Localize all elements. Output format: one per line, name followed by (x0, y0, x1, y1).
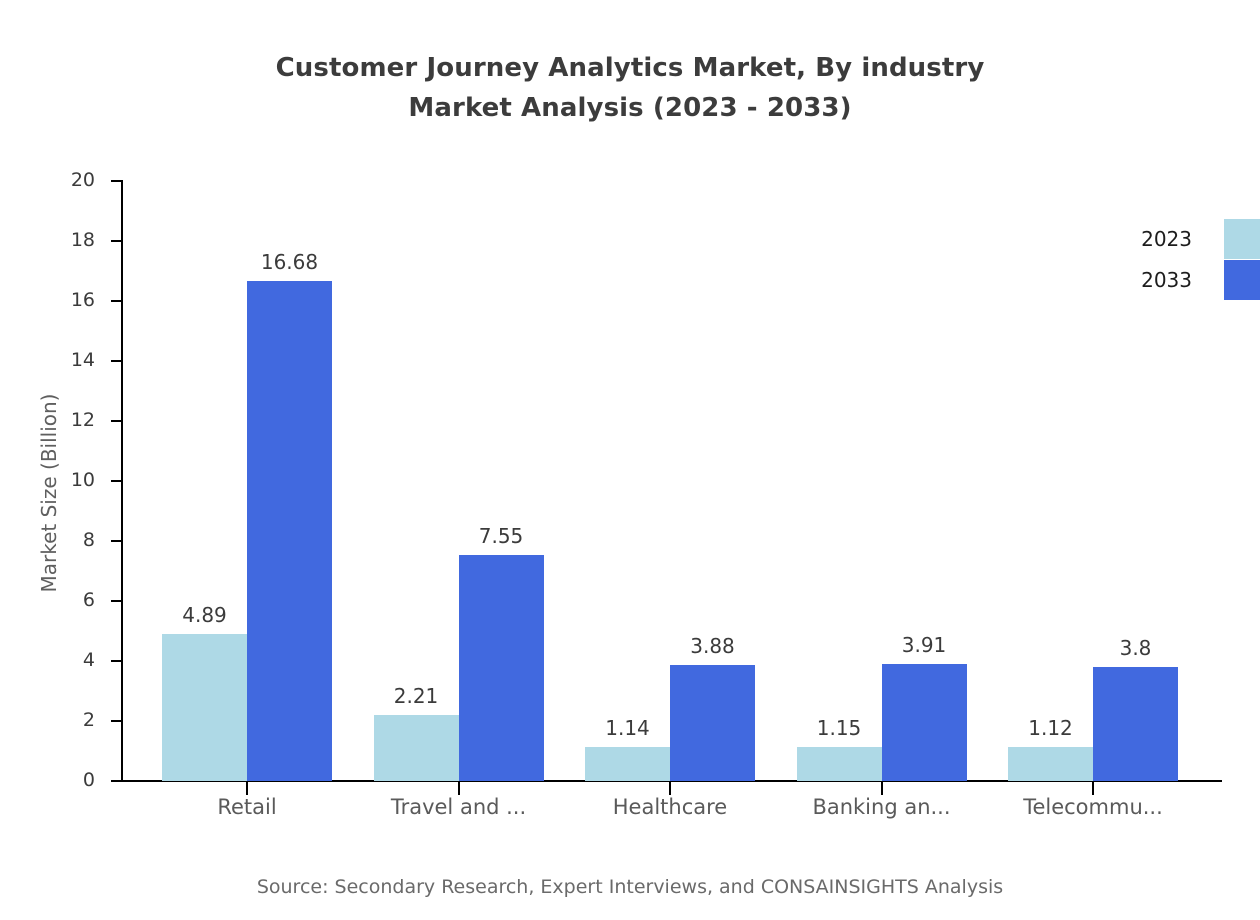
y-axis-tick-label: 2 (25, 711, 95, 730)
y-axis-tick (111, 240, 122, 242)
bar-2033-2[interactable] (670, 665, 755, 781)
bar-2033-1[interactable] (459, 555, 544, 782)
y-axis-tick (111, 420, 122, 422)
bar-value-label: 3.91 (854, 633, 994, 657)
chart-title-line2: Market Analysis (2023 - 2033) (0, 88, 1260, 128)
y-axis-tick-label: 4 (25, 651, 95, 670)
y-axis-tick-label: 0 (25, 771, 95, 790)
legend-item-2023[interactable]: 2023 (1110, 219, 1260, 259)
bar-2033-0[interactable] (247, 281, 332, 781)
bar-2023-0[interactable] (162, 634, 247, 781)
y-axis-tick (111, 360, 122, 362)
y-axis-tick-label: 12 (25, 411, 95, 430)
x-axis-tick (669, 782, 671, 795)
y-axis-tick-label: 20 (25, 171, 95, 190)
y-axis-tick (111, 300, 122, 302)
legend-label-2033: 2033 (1102, 260, 1192, 300)
y-axis-tick (111, 480, 122, 482)
y-axis-tick-label: 10 (25, 471, 95, 490)
y-axis-title: Market Size (Billion) (37, 193, 61, 793)
bar-value-label: 7.55 (431, 524, 571, 548)
bar-2023-4[interactable] (1008, 747, 1093, 781)
legend-label-2023: 2023 (1102, 219, 1192, 259)
source-note: Source: Secondary Research, Expert Inter… (0, 876, 1260, 898)
x-axis-category-label: Banking an... (782, 795, 982, 819)
legend-item-2033[interactable]: 2033 (1110, 260, 1260, 300)
chart-title: Customer Journey Analytics Market, By in… (0, 48, 1260, 128)
bar-2023-1[interactable] (374, 715, 459, 781)
y-axis-tick (111, 720, 122, 722)
bar-chart: Customer Journey Analytics Market, By in… (0, 0, 1260, 920)
bar-2033-4[interactable] (1093, 667, 1178, 781)
bar-2023-2[interactable] (585, 747, 670, 781)
x-axis-category-label: Healthcare (570, 795, 770, 819)
y-axis-tick (111, 180, 122, 182)
bar-value-label: 16.68 (220, 250, 360, 274)
x-axis-tick (881, 782, 883, 795)
x-axis-tick (246, 782, 248, 795)
chart-title-line1: Customer Journey Analytics Market, By in… (276, 53, 985, 83)
bar-2023-3[interactable] (797, 747, 882, 782)
y-axis-tick-label: 16 (25, 291, 95, 310)
legend-swatch-2023 (1224, 219, 1260, 259)
y-axis-tick-label: 6 (25, 591, 95, 610)
y-axis-tick (111, 660, 122, 662)
bar-2033-3[interactable] (882, 664, 967, 781)
y-axis-tick-label: 18 (25, 231, 95, 250)
y-axis-tick-label: 8 (25, 531, 95, 550)
y-axis-tick (111, 540, 122, 542)
y-axis-tick (111, 600, 122, 602)
x-axis-category-label: Retail (147, 795, 347, 819)
bar-value-label: 3.88 (643, 634, 783, 658)
x-axis-tick (1092, 782, 1094, 795)
x-axis-tick (458, 782, 460, 795)
x-axis-category-label: Telecommu... (993, 795, 1193, 819)
y-axis-tick-label: 14 (25, 351, 95, 370)
x-axis-category-label: Travel and ... (359, 795, 559, 819)
legend-swatch-2033 (1224, 260, 1260, 300)
bar-value-label: 3.8 (1066, 636, 1206, 660)
